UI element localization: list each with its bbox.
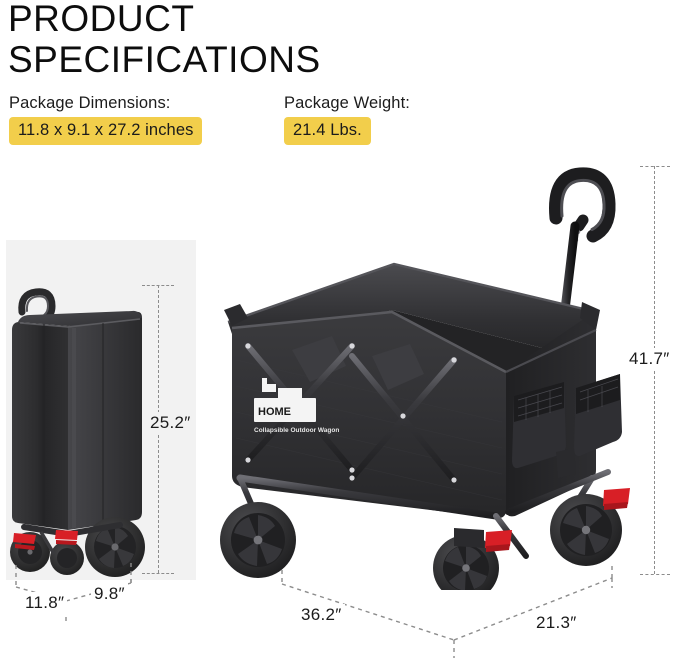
dim-label-folded-depth: 9.8″: [91, 583, 128, 605]
dim-label-open-width: 21.3″: [533, 612, 580, 634]
dim-label-folded-height: 25.2″: [147, 412, 194, 434]
spec-label-weight: Package Weight:: [284, 94, 410, 113]
spec-label-dimensions: Package Dimensions:: [9, 94, 202, 113]
dim-label-folded-width: 11.8″: [22, 592, 67, 614]
title-line-2: SPECIFICATIONS: [8, 39, 668, 80]
wheel-rear-right: [550, 488, 630, 566]
spec-value-weight: 21.4 Lbs.: [284, 117, 371, 145]
page-title: PRODUCT SPECIFICATIONS: [8, 0, 668, 80]
dim-label-open-length: 36.2″: [298, 604, 345, 626]
brake-lever-icon-rear: [603, 488, 630, 510]
brand-name: HOME: [258, 406, 291, 418]
title-line-1: PRODUCT: [8, 0, 668, 39]
spec-package-dimensions: Package Dimensions: 11.8 x 9.1 x 27.2 in…: [9, 94, 202, 145]
dim-line-open-height: [654, 166, 655, 574]
brake-lever-icon-front: [485, 530, 512, 552]
dim-label-open-height: 41.7″: [626, 348, 673, 370]
spec-package-weight: Package Weight: 21.4 Lbs.: [284, 94, 410, 145]
brand-tagline: Collapsible Outdoor Wagon: [254, 427, 339, 434]
infographic-canvas: PRODUCT SPECIFICATIONS Package Dimension…: [0, 0, 679, 661]
dim-cap-folded-height-top: [142, 285, 174, 286]
folded-handle-icon: [22, 292, 52, 318]
spec-value-dimensions: 11.8 x 9.1 x 27.2 inches: [9, 117, 202, 145]
dim-cap-open-height-top: [640, 166, 670, 167]
open-wagon-illustration: HOME Collapsible Outdoor Wagon: [196, 160, 636, 590]
